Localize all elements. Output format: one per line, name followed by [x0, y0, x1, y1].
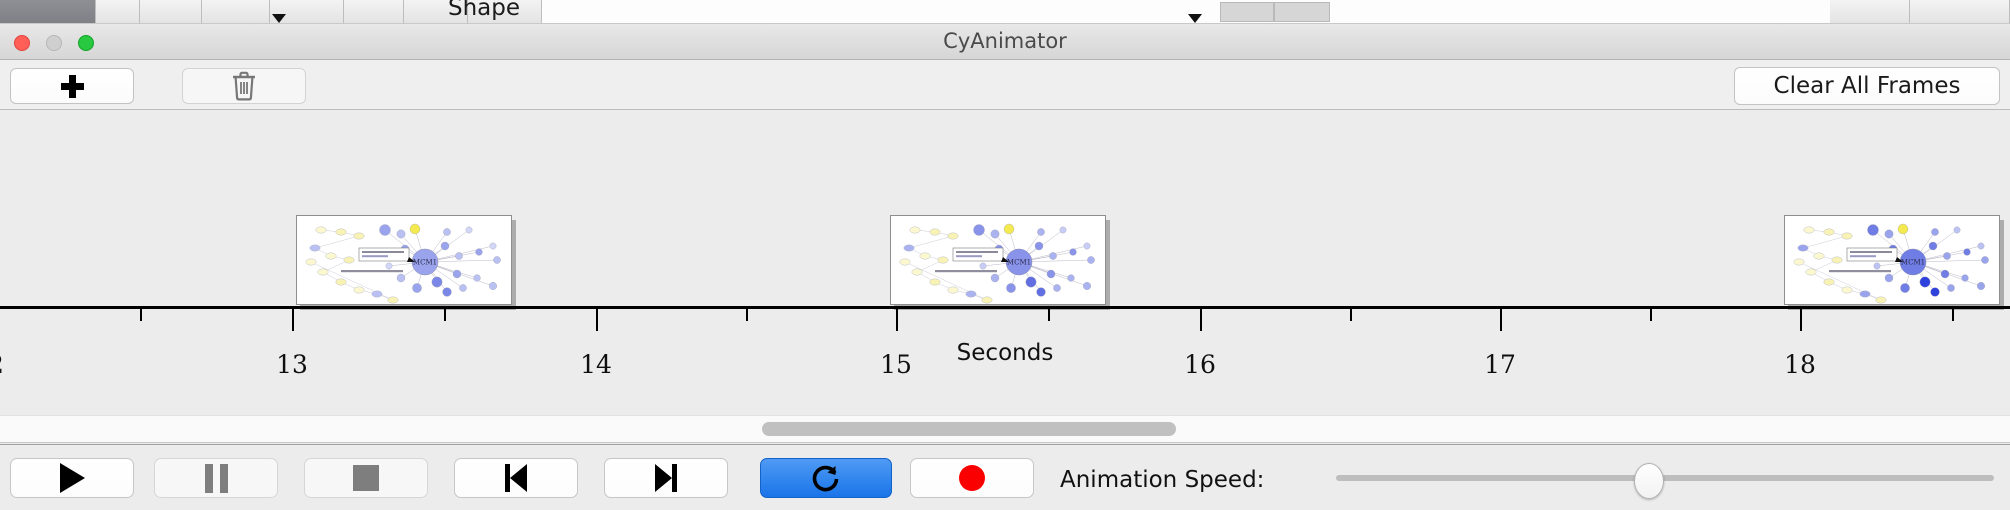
stop-button[interactable] — [304, 458, 428, 498]
title-bar: CyAnimator — [0, 24, 2010, 60]
background-tab — [1910, 0, 2010, 24]
axis-tick-major — [1200, 309, 1202, 331]
play-button[interactable] — [10, 458, 134, 498]
scrollbar-thumb[interactable] — [762, 422, 1176, 436]
skip-forward-button[interactable] — [604, 458, 728, 498]
skip-back-button[interactable] — [454, 458, 578, 498]
stop-icon — [353, 465, 379, 491]
axis-tick-minor — [1650, 309, 1652, 321]
background-dropdown-arrow-icon — [1188, 14, 1202, 23]
pause-button[interactable] — [154, 458, 278, 498]
background-scroll-box — [1220, 2, 1274, 22]
network-thumbnail: MCM1 — [297, 216, 511, 304]
network-graph: MCM1 — [1785, 216, 1999, 304]
timeline-panel[interactable]: MCM1MCM1MCM1 12131415161718 Seconds — [0, 110, 2010, 415]
skip-forward-icon — [652, 464, 680, 492]
svg-text:MCM1: MCM1 — [413, 259, 437, 267]
axis-tick-minor — [140, 309, 142, 321]
network-graph: MCM1 — [297, 216, 511, 304]
background-window-label: Shape — [448, 0, 520, 21]
network-graph: MCM1 — [891, 216, 1105, 304]
skip-back-icon — [502, 464, 530, 492]
axis-tick-major — [292, 309, 294, 331]
add-frame-button[interactable] — [10, 68, 134, 104]
background-tab — [344, 0, 404, 24]
frame-thumbnail-1[interactable]: MCM1 — [296, 215, 512, 305]
animation-speed-slider-thumb[interactable] — [1634, 463, 1664, 499]
frame-thumbnail-2[interactable]: MCM1 — [890, 215, 1106, 305]
plus-icon — [60, 74, 84, 98]
cyanimator-window: Shape CyAnimator Clear All Frames MCM1MC… — [0, 0, 2010, 510]
frame-thumbnail-3[interactable]: MCM1 — [1784, 215, 2000, 305]
network-thumbnail: MCM1 — [891, 216, 1105, 304]
loop-icon — [810, 462, 842, 494]
axis-tick-major — [1500, 309, 1502, 331]
delete-frame-button[interactable] — [182, 68, 306, 104]
play-icon — [60, 463, 85, 493]
toolbar: Clear All Frames — [0, 60, 2010, 110]
axis-tick-major — [596, 309, 598, 331]
loop-button[interactable] — [760, 458, 892, 498]
axis-tick-minor — [746, 309, 748, 321]
trash-icon — [231, 71, 257, 101]
axis-tick-minor — [444, 309, 446, 321]
pause-icon — [205, 464, 228, 493]
axis-tick-minor — [1952, 309, 1954, 321]
window-title: CyAnimator — [0, 24, 2010, 59]
background-tab — [0, 0, 96, 24]
network-thumbnail: MCM1 — [1785, 216, 1999, 304]
background-scroll-box — [1274, 2, 1330, 22]
axis-title: Seconds — [0, 340, 2010, 366]
timeline-axis — [0, 306, 2010, 309]
axis-tick-minor — [1048, 309, 1050, 321]
background-tab — [140, 0, 202, 24]
axis-tick-major — [896, 309, 898, 331]
playback-control-bar: Animation Speed: — [0, 444, 2010, 510]
axis-tick-minor — [1350, 309, 1352, 321]
background-dropdown-arrow-icon — [272, 14, 286, 23]
record-icon — [959, 465, 985, 491]
animation-speed-slider[interactable] — [1336, 475, 1994, 481]
clear-all-frames-button[interactable]: Clear All Frames — [1734, 67, 2000, 105]
horizontal-scrollbar[interactable] — [0, 415, 2010, 443]
svg-text:MCM1: MCM1 — [1901, 259, 1925, 267]
background-tab — [202, 0, 270, 24]
svg-text:MCM1: MCM1 — [1007, 259, 1031, 267]
record-button[interactable] — [910, 458, 1034, 498]
background-window-strip: Shape — [0, 0, 2010, 24]
animation-speed-label: Animation Speed: — [1060, 467, 1264, 493]
background-tab — [96, 0, 140, 24]
axis-tick-major — [1800, 309, 1802, 331]
background-tab — [1830, 0, 1910, 24]
